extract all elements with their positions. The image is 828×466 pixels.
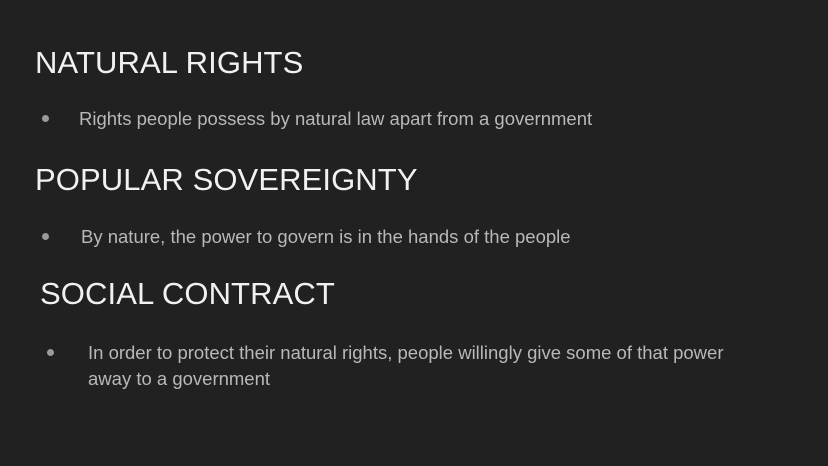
bullet-text: By nature, the power to govern is in the… [81, 224, 571, 250]
bullet-list-item: Rights people possess by natural law apa… [42, 106, 828, 132]
bullet-list-item: By nature, the power to govern is in the… [42, 224, 828, 250]
section-heading-natural-rights: NATURAL RIGHTS [35, 47, 828, 80]
bullet-text: Rights people possess by natural law apa… [79, 106, 592, 132]
slide-section-natural-rights: NATURAL RIGHTS Rights people possess by … [0, 47, 828, 132]
section-heading-popular-sovereignty: POPULAR SOVEREIGNTY [35, 164, 828, 197]
bullet-point-icon [42, 233, 49, 240]
bullet-text: In order to protect their natural rights… [88, 340, 743, 393]
slide-section-social-contract: SOCIAL CONTRACT In order to protect thei… [0, 278, 828, 392]
bullet-list-item: In order to protect their natural rights… [47, 340, 828, 393]
bullet-point-icon [47, 349, 54, 356]
slide-section-popular-sovereignty: POPULAR SOVEREIGNTY By nature, the power… [0, 164, 828, 250]
presentation-slide: NATURAL RIGHTS Rights people possess by … [0, 0, 828, 466]
section-heading-social-contract: SOCIAL CONTRACT [40, 278, 828, 311]
bullet-point-icon [42, 115, 49, 122]
